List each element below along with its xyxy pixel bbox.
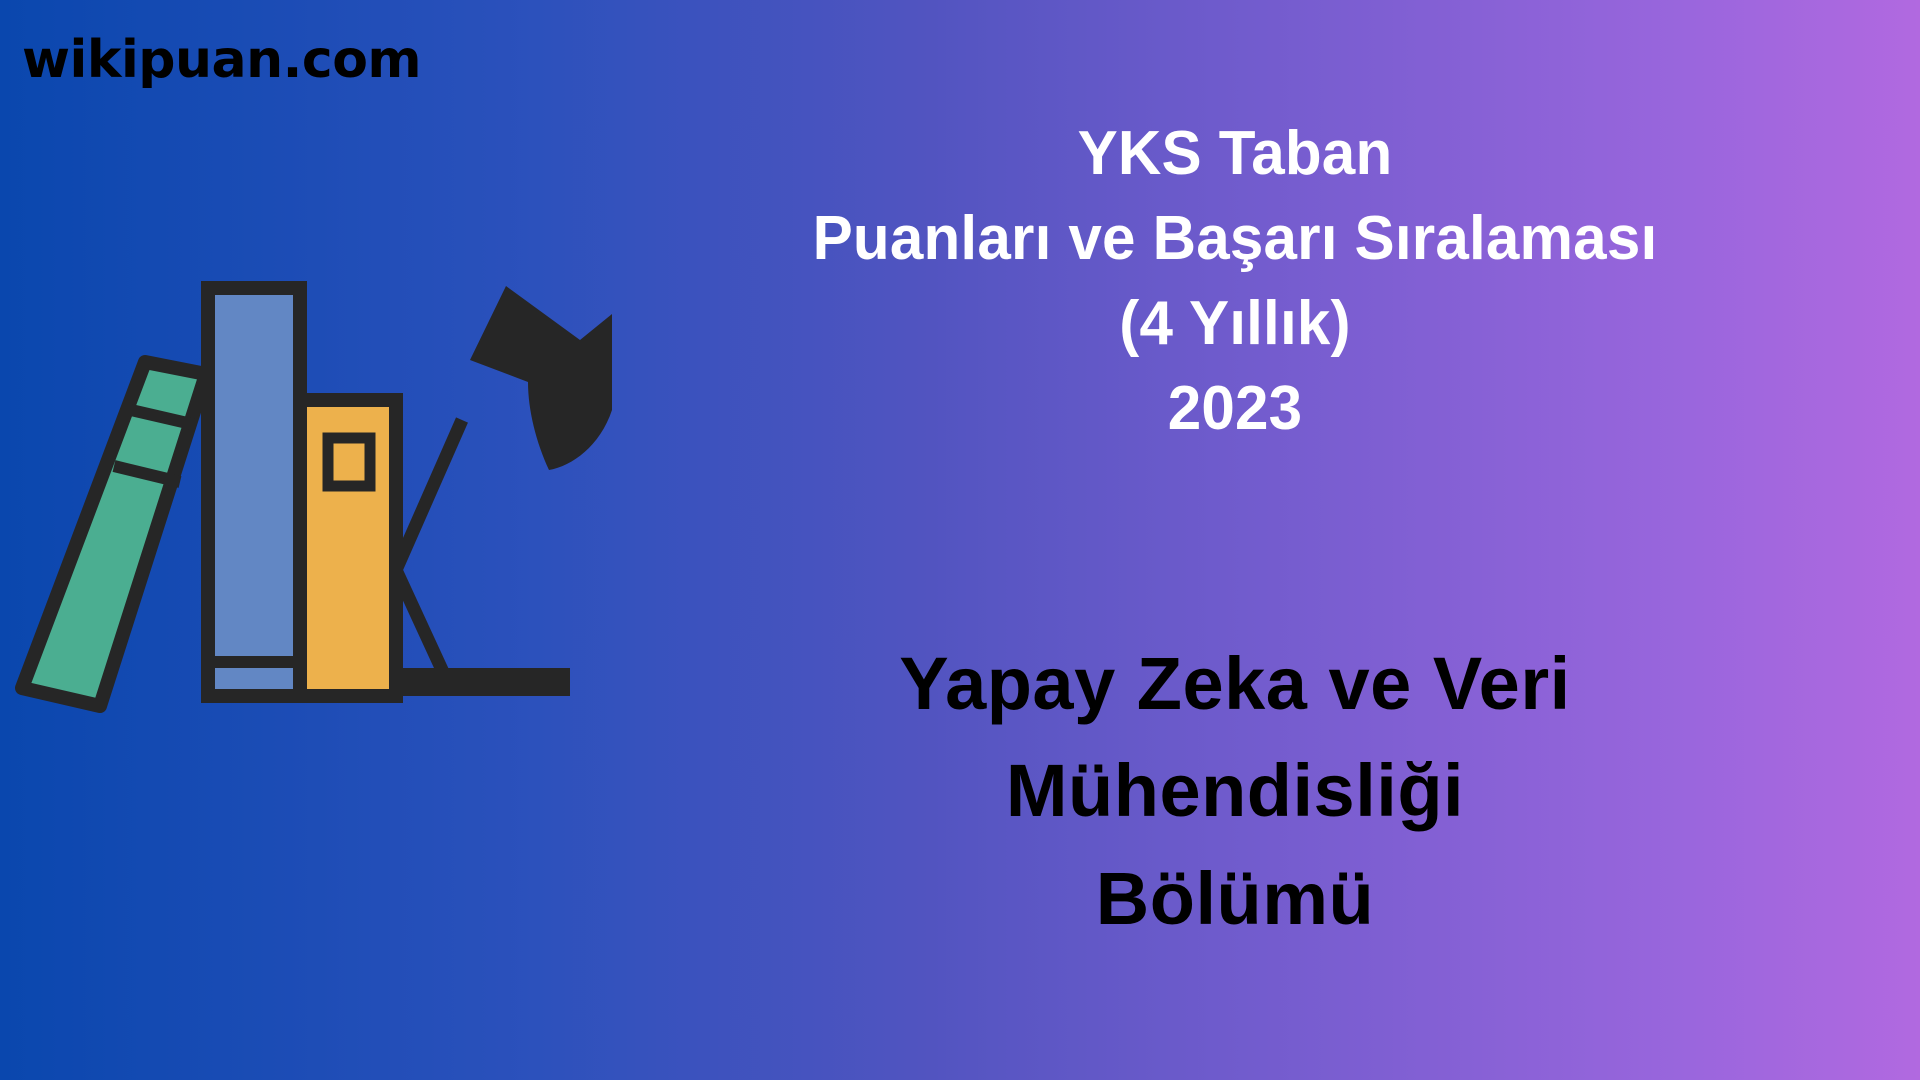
lamp-shade — [470, 286, 612, 470]
green-book-cover — [22, 362, 206, 706]
department-line-3: Bölümü — [620, 845, 1850, 952]
poster-canvas: wikipuan.com — [0, 0, 1920, 1080]
poster-text-block: YKS Taban Puanları ve Başarı Sıralaması … — [620, 0, 1920, 1080]
desk-lamp-icon — [396, 286, 612, 672]
site-watermark: wikipuan.com — [22, 34, 421, 86]
title-line-1: YKS Taban — [638, 112, 1831, 197]
blue-book-cover — [208, 288, 300, 696]
department-line-2: Mühendisliği — [620, 737, 1850, 844]
title-line-4: 2023 — [638, 367, 1831, 452]
lamp-arm — [396, 420, 462, 672]
title-line-2: Puanları ve Başarı Sıralaması — [638, 197, 1831, 282]
blue-book — [208, 288, 300, 696]
department-title: Yapay Zeka ve Veri Mühendisliği Bölümü — [620, 630, 1850, 952]
page-title: YKS Taban Puanları ve Başarı Sıralaması … — [638, 112, 1831, 452]
yellow-book — [300, 400, 396, 696]
yellow-book-cover — [300, 400, 396, 696]
title-line-3: (4 Yıllık) — [638, 282, 1831, 367]
books-and-lamp-svg — [0, 270, 620, 750]
department-line-1: Yapay Zeka ve Veri — [620, 630, 1850, 737]
books-and-lamp-illustration — [0, 270, 620, 750]
green-book — [22, 362, 206, 706]
